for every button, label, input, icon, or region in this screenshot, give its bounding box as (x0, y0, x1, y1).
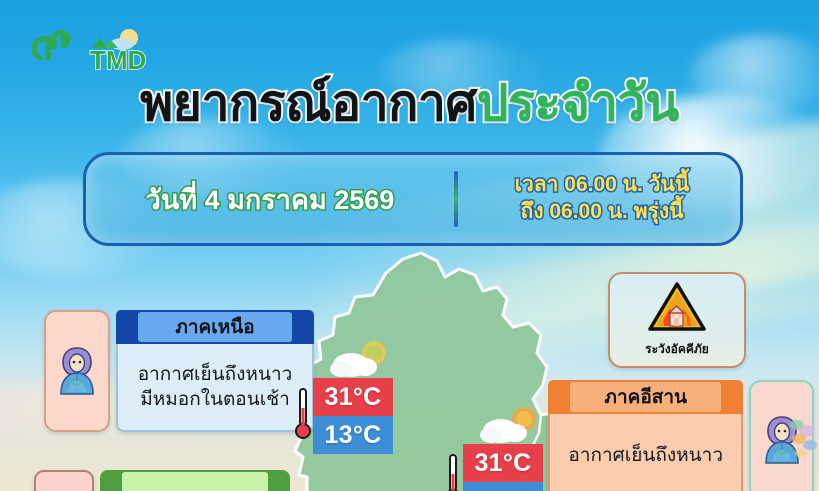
region-card-north-header: ภาคเหนือ (116, 310, 314, 344)
temperature-low-north: 13°C (313, 416, 393, 454)
date-time-bar: วันที่ 4 มกราคม 2569 เวลา 06.00 น. วันนี… (83, 152, 743, 246)
region-desc-north-line-2: มีหมอกในตอนเช้า (138, 387, 293, 412)
cold-person-icon (44, 310, 110, 432)
thermometer-icon (295, 386, 311, 447)
fire-hazard-warning-label: ระวังอัคคีภัย (645, 340, 709, 359)
region-desc-north-line-1: อากาศเย็นถึงหนาว (138, 362, 293, 387)
header-ribbon (122, 472, 268, 491)
region-name-north: ภาคเหนือ (175, 312, 254, 342)
region-description-isan: อากาศเย็นถึงหนาว (548, 414, 743, 491)
region-card-isan[interactable]: ภาคอีสาน อากาศเย็นถึงหนาว (548, 380, 814, 491)
region-card-north-body: ภาคเหนือ อากาศเย็นถึงหนาว มีหมอกในตอนเช้… (116, 310, 314, 432)
region-card-north[interactable]: ภาคเหนือ อากาศเย็นถึงหนาว มีหมอกในตอนเช้… (44, 310, 314, 432)
thermometer-icon (445, 452, 461, 491)
forecast-time-range: เวลา 06.00 น. วันนี้ ถึง 06.00 น. พรุ่งน… (458, 172, 740, 226)
temperature-badge-north: 31°C 13°C (313, 378, 393, 454)
fire-hazard-triangle-icon (648, 281, 706, 338)
region-card-isan-header: ภาคอีสาน (548, 380, 743, 414)
temperature-badge-central: 31°C 13°C (463, 444, 543, 491)
region-card-partial[interactable] (34, 470, 290, 491)
edge-decoration (789, 415, 819, 461)
cloud-sun-icon (327, 338, 393, 385)
region-card-partial-header (100, 470, 290, 491)
region-card-partial-body (100, 470, 290, 491)
svg-text:TMD: TMD (90, 45, 146, 74)
temperature-low-central: 13°C (463, 482, 543, 491)
tmd-logo: TMD (26, 22, 151, 74)
cloud-sun-icon (477, 404, 543, 451)
region-name-isan: ภาคอีสาน (604, 382, 687, 412)
region-desc-isan-line-1: อากาศเย็นถึงหนาว (568, 443, 723, 468)
page-title-main: พยากรณ์อากาศ (140, 75, 477, 131)
fire-hazard-warning[interactable]: ระวังอัคคีภัย (608, 272, 746, 368)
forecast-time-line-2: ถึง 06.00 น. พรุ่งนี้ (464, 199, 740, 226)
page-title: พยากรณ์อากาศประจำวัน (0, 78, 819, 128)
page-title-accent: ประจำวัน (477, 75, 679, 131)
region-icon-placeholder (34, 470, 94, 491)
tmd-logo-mark (34, 32, 68, 58)
forecast-time-line-1: เวลา 06.00 น. วันนี้ (464, 172, 740, 199)
region-card-isan-body: ภาคอีสาน อากาศเย็นถึงหนาว (548, 380, 743, 491)
forecast-date: วันที่ 4 มกราคม 2569 (86, 178, 454, 221)
region-description-north: อากาศเย็นถึงหนาว มีหมอกในตอนเช้า (116, 344, 314, 432)
weather-infographic: TMD พยากรณ์อากาศประจำวัน วันที่ 4 มกราคม… (0, 0, 819, 491)
